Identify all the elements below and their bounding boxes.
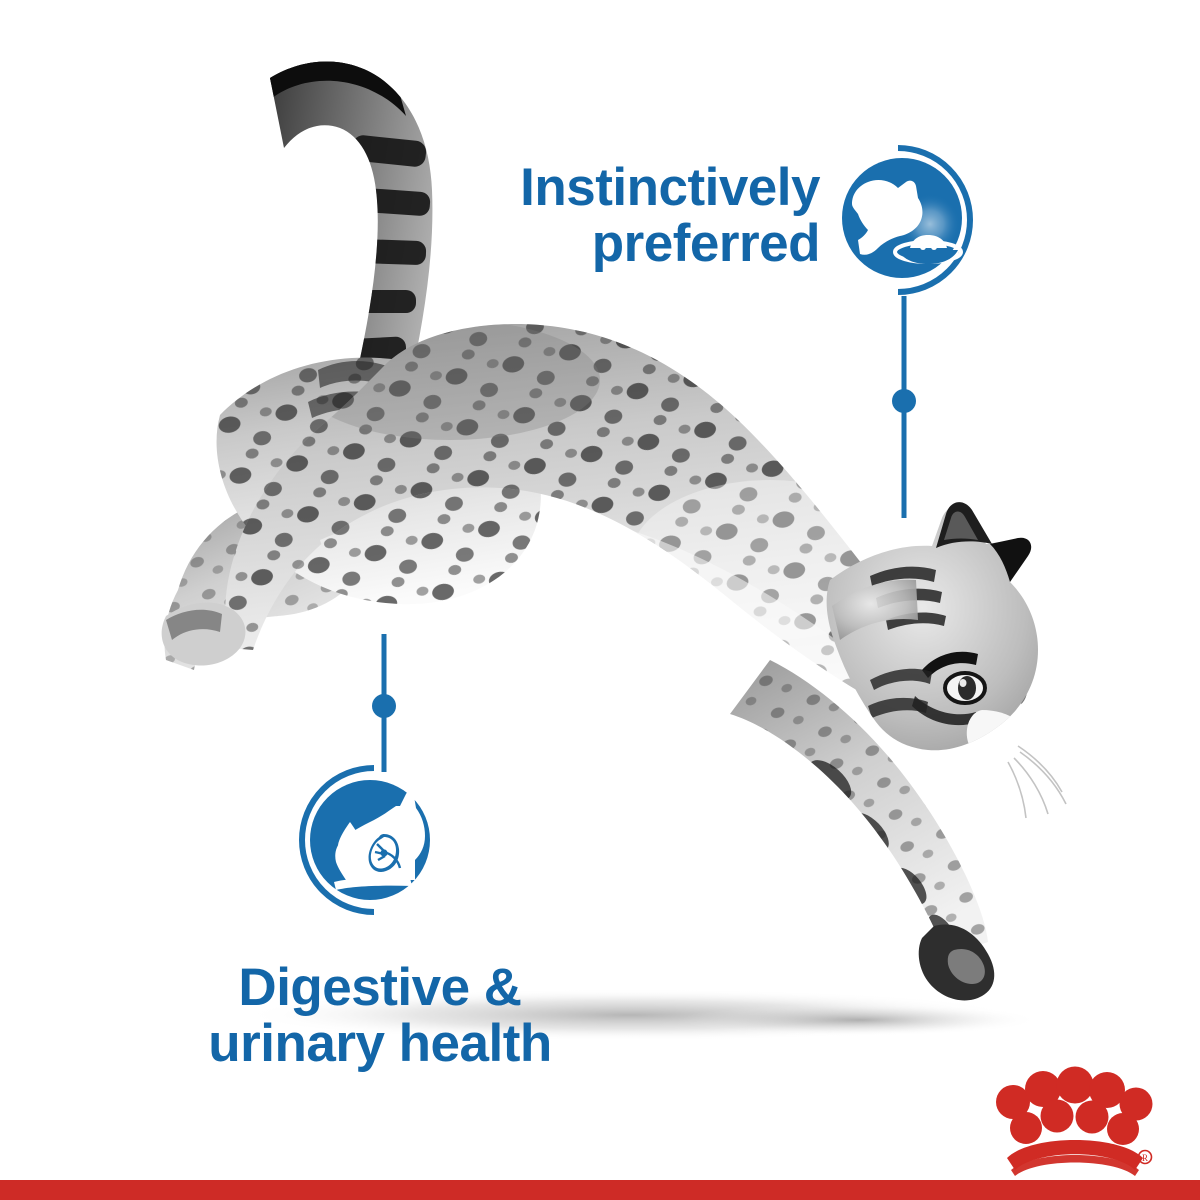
feature-connector-line-1 (880, 296, 930, 521)
feature-label-digestive-urinary-health: Digestive & urinary health (150, 960, 610, 1071)
footer-red-stripe (0, 1180, 1200, 1200)
cat-eating-bowl-icon (828, 142, 984, 298)
cat-kidney-icon (288, 762, 444, 918)
royal-canin-crown-logo: R (975, 1058, 1155, 1176)
svg-text:R: R (1142, 1153, 1148, 1163)
feature-label-instinctively-preferred: Instinctively preferred (440, 160, 820, 271)
product-feature-panel: Instinctively preferred (0, 0, 1200, 1200)
feature-connector-line-2 (360, 634, 410, 774)
